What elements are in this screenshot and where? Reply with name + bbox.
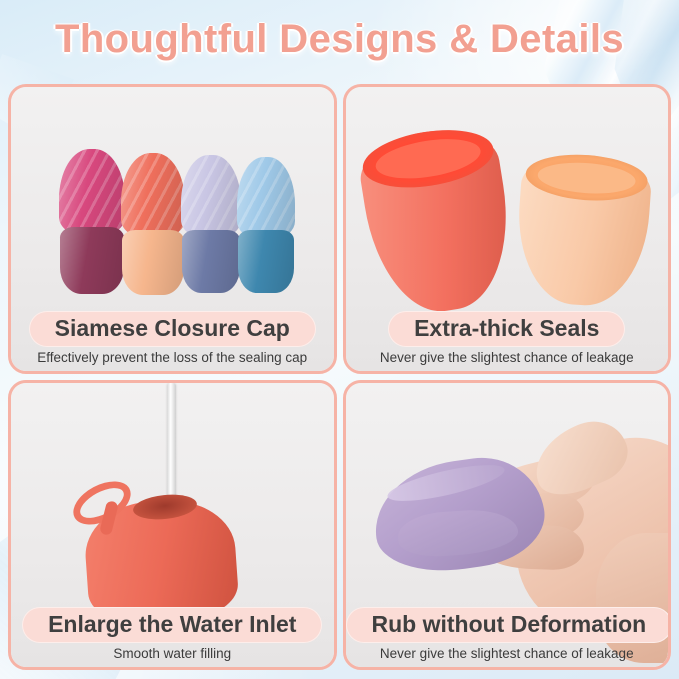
feature-card-siamese-closure-cap: Siamese Closure Cap Effectively prevent … xyxy=(8,84,337,374)
bottle-blue-cap xyxy=(237,157,295,239)
caption-title: Extra-thick Seals xyxy=(388,311,625,347)
caption-rub-without-deformation: Rub without Deformation Never give the s… xyxy=(346,607,669,667)
body-shading xyxy=(238,230,294,293)
caption-title: Siamese Closure Cap xyxy=(29,311,316,347)
cone-peach xyxy=(512,151,652,310)
caption-subtitle: Never give the slightest chance of leaka… xyxy=(346,646,669,661)
cap-shading xyxy=(237,157,295,239)
bottle-pink xyxy=(59,149,125,294)
page-title: Thoughtful Designs & Details xyxy=(0,8,679,70)
caption-subtitle: Effectively prevent the loss of the seal… xyxy=(11,350,334,365)
caption-subtitle: Smooth water filling xyxy=(11,646,334,661)
body-shading xyxy=(122,230,183,295)
bottle-blue-body xyxy=(238,230,294,293)
body-shading xyxy=(60,227,123,294)
caption-extra-thick-seals: Extra-thick Seals Never give the slighte… xyxy=(346,311,669,371)
cap-shading xyxy=(121,153,185,238)
bottle-lavender-cap xyxy=(181,155,241,238)
bottle-blue xyxy=(237,157,295,293)
bottle-coral-body xyxy=(122,230,183,295)
bottle-pink-body xyxy=(60,227,123,294)
caption-title: Enlarge the Water Inlet xyxy=(22,607,322,643)
feature-grid: Siamese Closure Cap Effectively prevent … xyxy=(8,84,671,670)
promo-graphic: Thoughtful Designs & Details xyxy=(0,0,679,679)
feature-card-rub-without-deformation: Rub without Deformation Never give the s… xyxy=(343,380,672,670)
bottle-lavender-body xyxy=(182,230,240,293)
bottle-pink-cap xyxy=(59,149,125,236)
caption-subtitle: Never give the slightest chance of leaka… xyxy=(346,350,669,365)
feature-card-extra-thick-seals: Extra-thick Seals Never give the slighte… xyxy=(343,84,672,374)
caption-enlarge-water-inlet: Enlarge the Water Inlet Smooth water fil… xyxy=(11,607,334,667)
bottle-coral-cap xyxy=(121,153,185,238)
body-shading xyxy=(182,230,240,293)
bottle-lavender xyxy=(181,155,241,293)
cone-coral xyxy=(354,121,520,321)
cap-shading xyxy=(181,155,241,238)
cap-shading xyxy=(59,149,125,236)
caption-siamese-closure-cap: Siamese Closure Cap Effectively prevent … xyxy=(11,311,334,371)
caption-title: Rub without Deformation xyxy=(346,607,672,643)
bottle-coral xyxy=(121,153,185,295)
feature-card-enlarge-water-inlet: Enlarge the Water Inlet Smooth water fil… xyxy=(8,380,337,670)
